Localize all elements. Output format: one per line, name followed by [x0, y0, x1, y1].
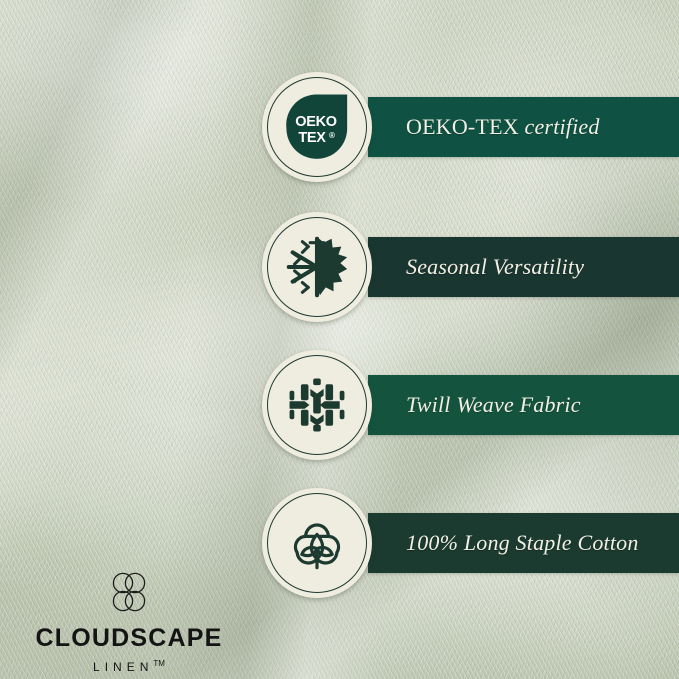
feature-bar: OEKO-TEX certified — [368, 97, 679, 157]
feature-badge — [262, 212, 372, 322]
feature-row-long-staple-cotton: 100% Long Staple Cotton — [262, 488, 679, 598]
feature-bar: Twill Weave Fabric — [368, 375, 679, 435]
feature-label: OEKO-TEX certified — [406, 114, 600, 140]
feature-label-italic: certified — [519, 114, 600, 139]
feature-badge — [262, 488, 372, 598]
brand-tagline: LINENTM — [93, 659, 165, 674]
snowflake-sun-icon — [280, 230, 354, 304]
feature-label-italic: 100% Long Staple Cotton — [406, 530, 639, 555]
feature-label: Seasonal Versatility — [406, 254, 584, 280]
feature-bar: Seasonal Versatility — [368, 237, 679, 297]
feature-row-oeko-tex: OEKO-TEX certified OEKO TEX ® — [262, 72, 679, 182]
product-feature-image: OEKO-TEX certified OEKO TEX ® Seasonal V… — [0, 0, 679, 679]
feature-bar: 100% Long Staple Cotton — [368, 513, 679, 573]
brand-name: CLOUDSCAPE — [24, 626, 234, 651]
feature-label: Twill Weave Fabric — [406, 392, 581, 418]
svg-text:TEX: TEX — [298, 130, 326, 146]
svg-text:OEKO: OEKO — [295, 114, 337, 130]
feature-label-italic: Twill Weave Fabric — [406, 392, 581, 417]
feature-label: 100% Long Staple Cotton — [406, 530, 639, 556]
interlocking-circles-logo-mark — [107, 566, 151, 620]
cotton-boll-icon — [280, 506, 354, 580]
trademark-symbol: TM — [153, 659, 165, 668]
feature-badge — [262, 350, 372, 460]
feature-badge: OEKO TEX ® — [262, 72, 372, 182]
feature-row-twill-weave: Twill Weave Fabric — [262, 350, 679, 460]
oeko-tex-seal-icon: OEKO TEX ® — [280, 90, 354, 164]
feature-row-seasonal-versatility: Seasonal Versatility — [262, 212, 679, 322]
brand-tagline-text: LINEN — [93, 660, 153, 674]
svg-text:®: ® — [329, 131, 335, 140]
twill-weave-icon — [280, 368, 354, 442]
feature-label-italic: Seasonal Versatility — [406, 254, 584, 279]
brand-logo: CLOUDSCAPE LINENTM — [24, 566, 234, 676]
feature-label-upright: OEKO-TEX — [406, 114, 519, 139]
